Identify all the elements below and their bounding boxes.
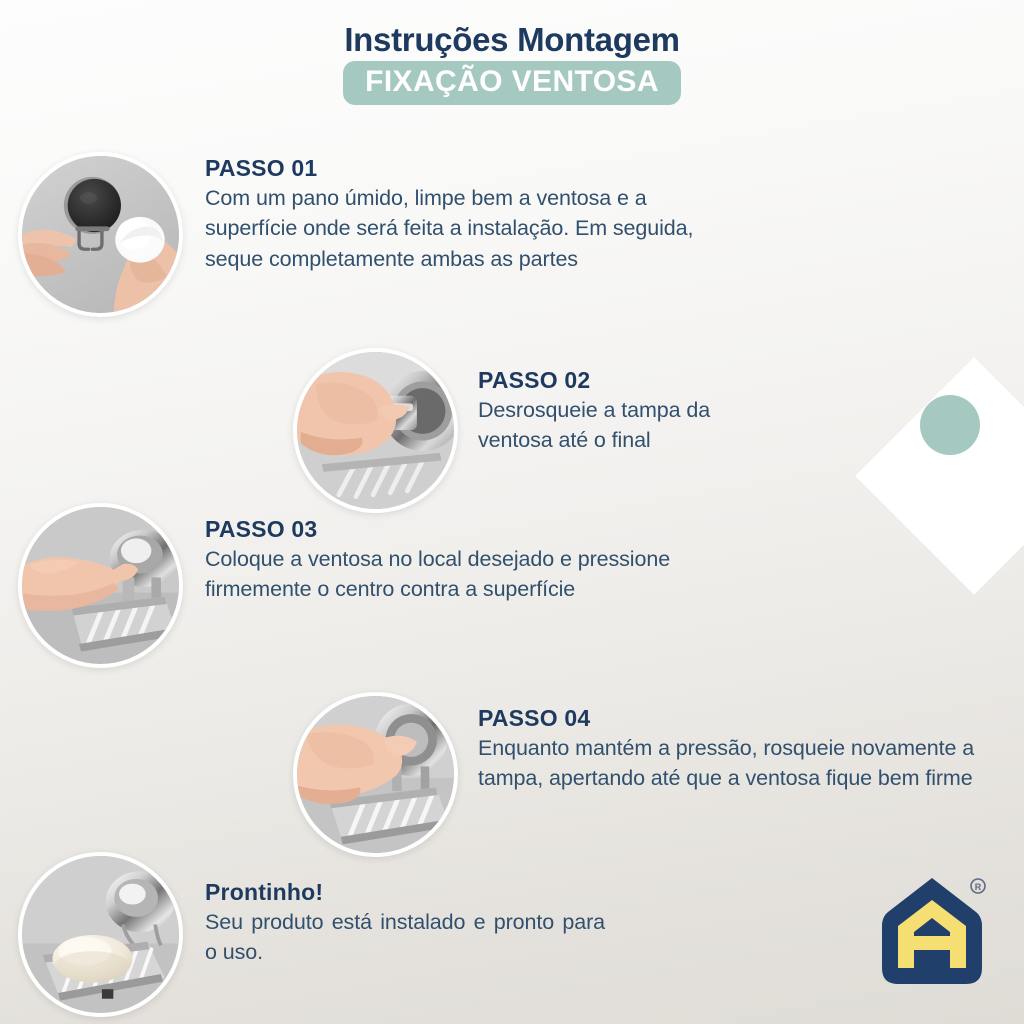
step-item-05: Prontinho! Seu produto está instalado e … [18,852,605,1017]
step-05-photo [18,852,183,1017]
header: Instruções Montagem FIXAÇÃO VENTOSA [0,22,1024,105]
step-04-text: PASSO 04 Enquanto mantém a pressão, rosq… [478,692,998,794]
step-05-title: Prontinho! [205,878,605,907]
step-item-02: PASSO 02 Desrosqueie a tampa da ventosa … [293,348,778,513]
step-01-text: PASSO 01 Com um pano úmido, limpe bem a … [205,152,705,274]
step-04-photo [293,692,458,857]
header-badge-wrapper: FIXAÇÃO VENTOSA [0,61,1024,106]
step-01-title: PASSO 01 [205,154,705,183]
decorative-diamond-shape [855,357,1024,595]
step-03-photo [18,503,183,668]
step-02-title: PASSO 02 [478,366,778,395]
step-02-body: Desrosqueie a tampa da ventosa até o fin… [478,395,778,456]
step-01-body: Com um pano úmido, limpe bem a ventosa e… [205,183,705,275]
step-03-body: Coloque a ventosa no local desejado e pr… [205,544,675,605]
step-item-01: PASSO 01 Com um pano úmido, limpe bem a … [18,152,705,317]
step-04-title: PASSO 04 [478,704,998,733]
step-03-title: PASSO 03 [205,515,675,544]
svg-text:R: R [975,882,982,892]
decorative-circle-shape [920,395,980,455]
step-01-photo [18,152,183,317]
brand-logo: R [872,872,992,992]
step-02-photo [293,348,458,513]
step-02-text: PASSO 02 Desrosqueie a tampa da ventosa … [478,348,778,456]
step-05-text: Prontinho! Seu produto está instalado e … [205,852,605,968]
fixation-type-badge: FIXAÇÃO VENTOSA [343,61,681,106]
step-04-body: Enquanto mantém a pressão, rosqueie nova… [478,733,998,794]
page-title: Instruções Montagem [0,22,1024,59]
step-item-04: PASSO 04 Enquanto mantém a pressão, rosq… [293,692,998,857]
step-item-03: PASSO 03 Coloque a ventosa no local dese… [18,503,675,668]
step-05-body: Seu produto está instalado e pronto para… [205,907,605,968]
registered-trademark-icon: R [971,879,985,893]
step-03-text: PASSO 03 Coloque a ventosa no local dese… [205,503,675,605]
